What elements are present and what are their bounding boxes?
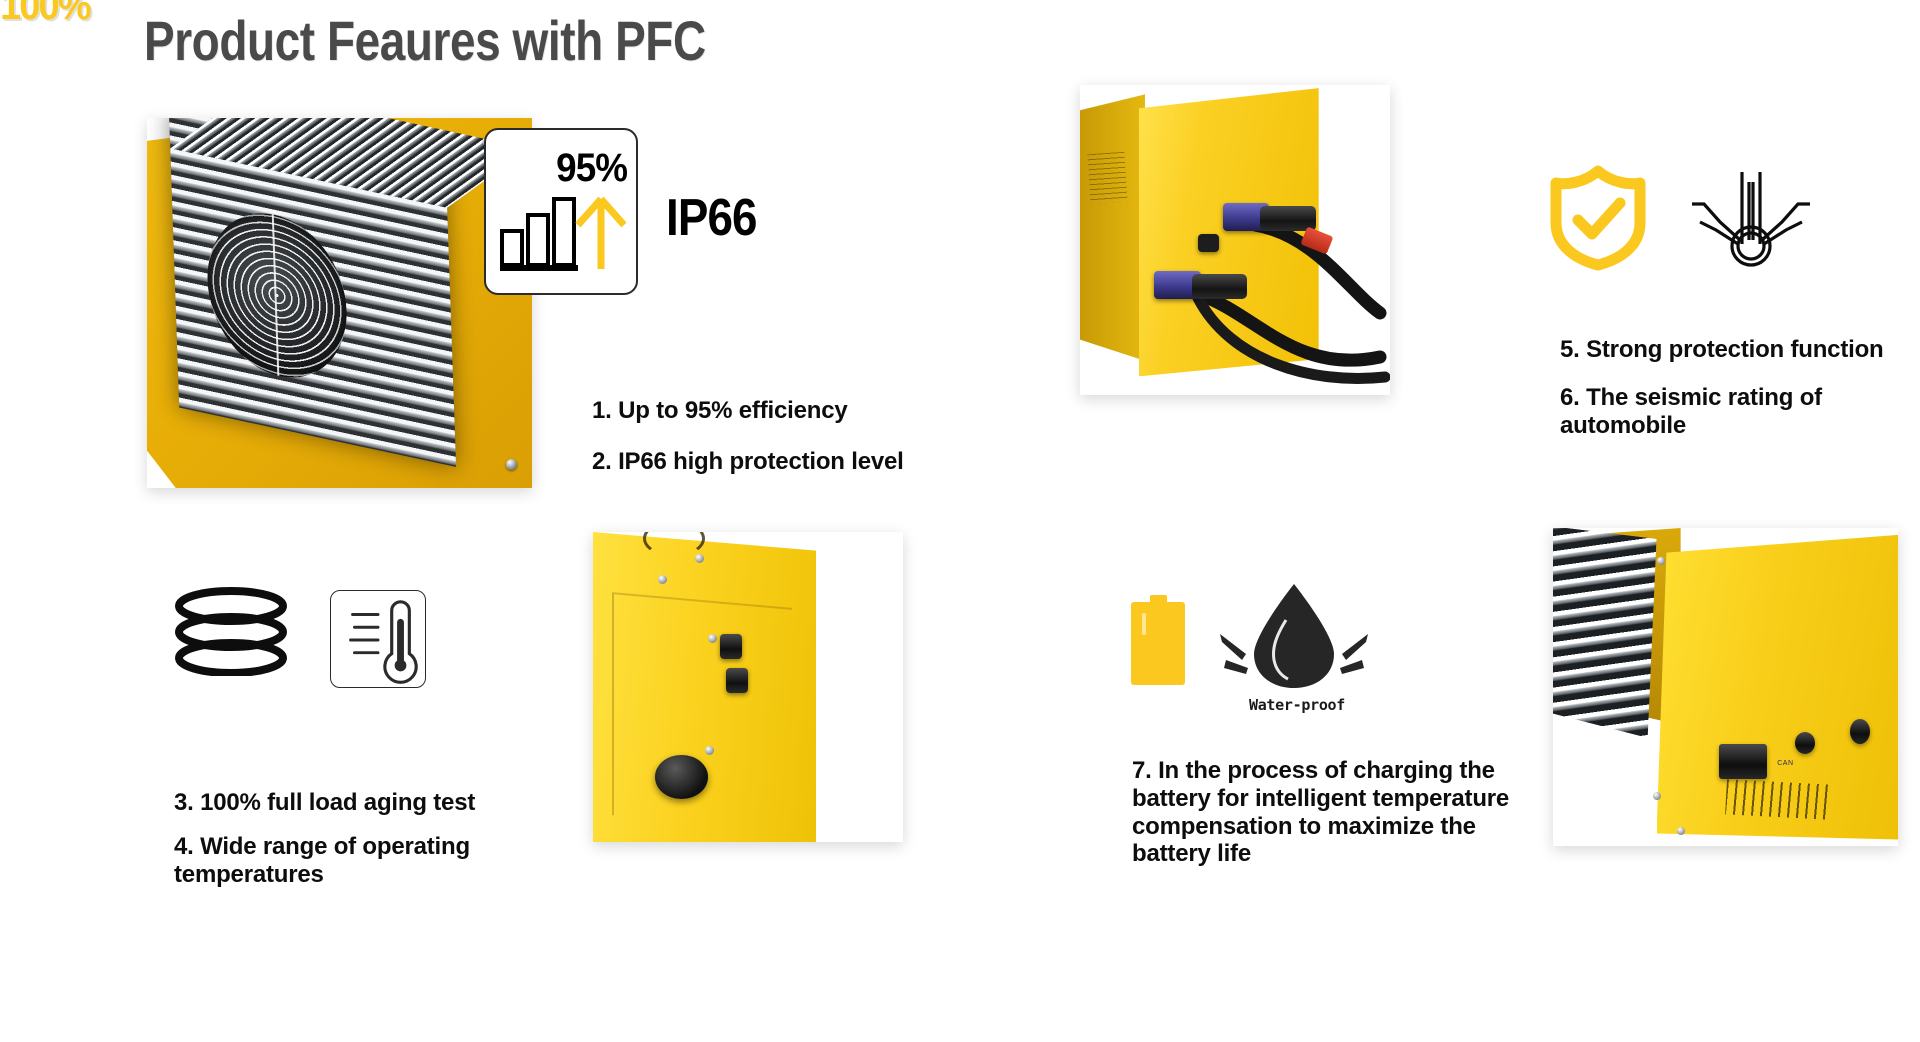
infographic-page: Product Feaures with PFC 95% <box>0 0 1920 1042</box>
efficiency-bar-chart-icon <box>500 187 626 277</box>
aging-test-rings-icon <box>168 584 294 676</box>
feature-item-4: 4. Wide range of operating temperatures <box>174 833 534 890</box>
screw-icon <box>708 634 717 643</box>
waterproof-label: Water-proof <box>1237 696 1357 714</box>
feature-item-2: 2. IP66 high protection level <box>592 448 904 476</box>
can-port-icon <box>1795 732 1816 754</box>
load-percent-label: 100% <box>0 0 125 29</box>
screw-icon <box>1657 557 1665 565</box>
panel-groove <box>612 592 792 831</box>
can-port-label: CAN <box>1777 760 1793 767</box>
heatsink-block <box>169 118 456 467</box>
seismic-suspension-icon <box>1690 164 1812 270</box>
photo-panel-knobs <box>593 532 903 842</box>
screw-icon <box>695 554 704 563</box>
cable-plug <box>1192 274 1248 299</box>
screw-icon <box>506 459 517 470</box>
vent-slots <box>1725 780 1830 820</box>
panel-connector <box>720 634 742 659</box>
feature-item-1: 1. Up to 95% efficiency <box>592 397 848 425</box>
thermometer-icon-box <box>330 590 426 688</box>
feature-item-7: 7. In the process of charging the batter… <box>1132 757 1542 868</box>
photo-waterproof-cables-image <box>1080 85 1390 395</box>
feature-item-3: 3. 100% full load aging test <box>174 789 475 817</box>
photo-side-view: CAN <box>1553 528 1898 846</box>
photo-waterproof-cables <box>1080 85 1390 395</box>
page-title: Product Feaures with PFC <box>144 8 706 73</box>
panel-connector <box>726 668 748 693</box>
battery-icon <box>1131 595 1185 685</box>
screw-icon <box>705 746 714 755</box>
water-drop-icon <box>1220 582 1368 692</box>
photo-panel-knobs-image <box>593 532 903 842</box>
photo-heatsink-fan <box>147 118 532 488</box>
thermometer-icon <box>331 591 425 687</box>
heatsink-fins <box>1553 528 1657 738</box>
photo-heatsink-fan-image <box>147 118 532 488</box>
efficiency-icon-box: 95% <box>484 128 638 295</box>
cable-paths <box>1080 85 1390 395</box>
shield-check-icon <box>1548 163 1648 271</box>
small-port <box>1198 234 1220 253</box>
ip-rating-label: IP66 <box>666 188 757 248</box>
efficiency-percent-label: 95% <box>556 146 627 191</box>
screw-icon <box>1653 792 1661 800</box>
feature-item-6: 6. The seismic rating of automobile <box>1560 384 1900 441</box>
photo-side-view-image: CAN <box>1553 528 1898 846</box>
panel-knob <box>655 755 708 798</box>
ac-input-socket <box>1719 744 1767 779</box>
feature-item-5: 5. Strong protection function <box>1560 336 1884 364</box>
